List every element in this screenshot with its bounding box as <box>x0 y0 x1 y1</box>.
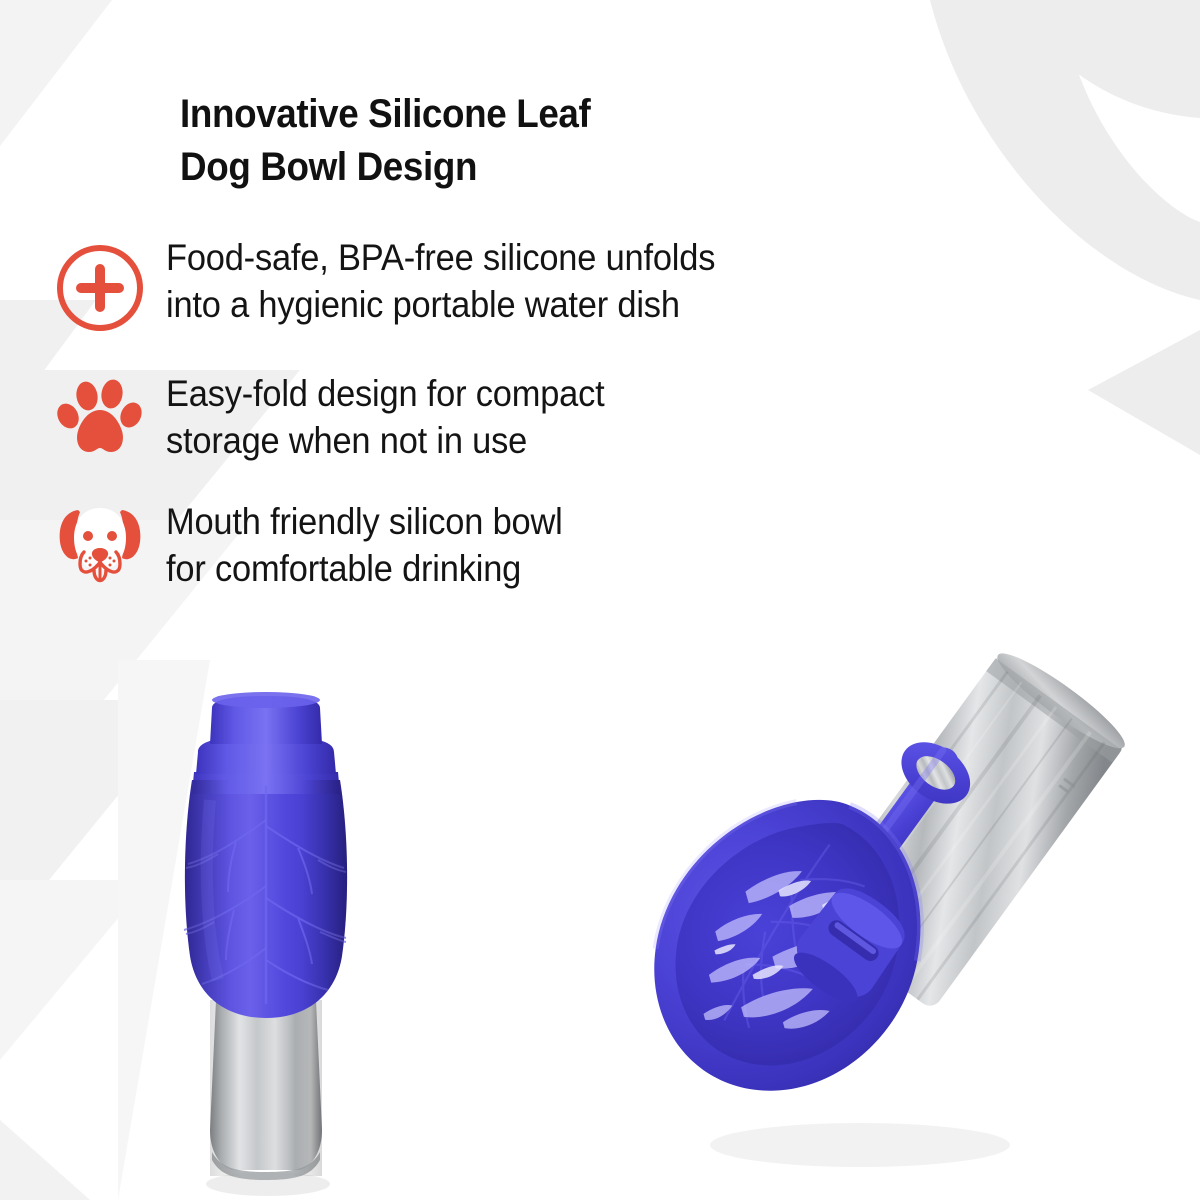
feature-list: Food-safe, BPA-free silicone unfolds int… <box>0 232 1100 624</box>
product-image-unfolded-bowl-bottle <box>560 560 1200 1200</box>
page-title-line-2: Dog Bowl Design <box>180 141 971 194</box>
paw-print-icon <box>48 368 152 472</box>
page-title-line-1: Innovative Silicone Leaf <box>180 88 971 141</box>
feature-item-mouth-friendly: Mouth friendly silicon bowl for comforta… <box>0 496 1100 600</box>
feature-item-food-safe: Food-safe, BPA-free silicone unfolds int… <box>0 232 1100 344</box>
plus-circle-icon <box>48 232 152 344</box>
product-shadow <box>710 1123 1010 1167</box>
product-image-folded-bottle <box>140 660 390 1200</box>
dog-face-icon <box>48 496 152 600</box>
feature-item-easy-fold: Easy-fold design for compact storage whe… <box>0 368 1100 472</box>
feature-item-label: Easy-fold design for compact storage whe… <box>166 368 605 465</box>
steel-base-shading <box>210 1000 322 1176</box>
silicone-cap-lip <box>212 692 320 708</box>
feature-item-label: Food-safe, BPA-free silicone unfolds int… <box>166 232 715 329</box>
feature-item-label: Mouth friendly silicon bowl for comforta… <box>166 496 563 593</box>
page-title: Innovative Silicone Leaf Dog Bowl Design <box>180 88 971 194</box>
